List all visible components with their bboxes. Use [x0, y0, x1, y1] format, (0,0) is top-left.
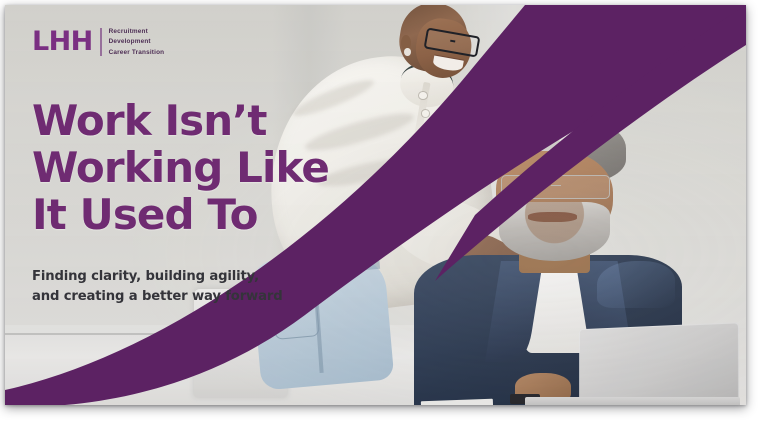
slide-subheadline: Finding clarity, building agility, and c…	[32, 267, 283, 308]
tagline-line-2: Development	[109, 37, 165, 46]
logo-wordmark: LHH	[32, 28, 93, 55]
logo-divider	[100, 28, 102, 56]
presentation-slide: LHH Recruitment Development Career Trans…	[5, 5, 746, 405]
screenshot-canvas: LHH Recruitment Development Career Trans…	[0, 0, 768, 432]
headline-line-3: It Used To	[32, 191, 329, 238]
slide-headline: Work Isn’t Working Like It Used To	[32, 97, 329, 238]
headline-line-1: Work Isn’t	[32, 97, 329, 144]
logo-tagline: Recruitment Development Career Transitio…	[109, 27, 165, 57]
lhh-logo: LHH Recruitment Development Career Trans…	[32, 27, 164, 57]
tagline-line-1: Recruitment	[109, 27, 165, 36]
subheadline-line-1: Finding clarity, building agility,	[32, 267, 283, 287]
headline-line-2: Working Like	[32, 144, 329, 191]
subheadline-line-2: and creating a better way forward	[32, 287, 283, 307]
tagline-line-3: Career Transition	[109, 48, 165, 57]
